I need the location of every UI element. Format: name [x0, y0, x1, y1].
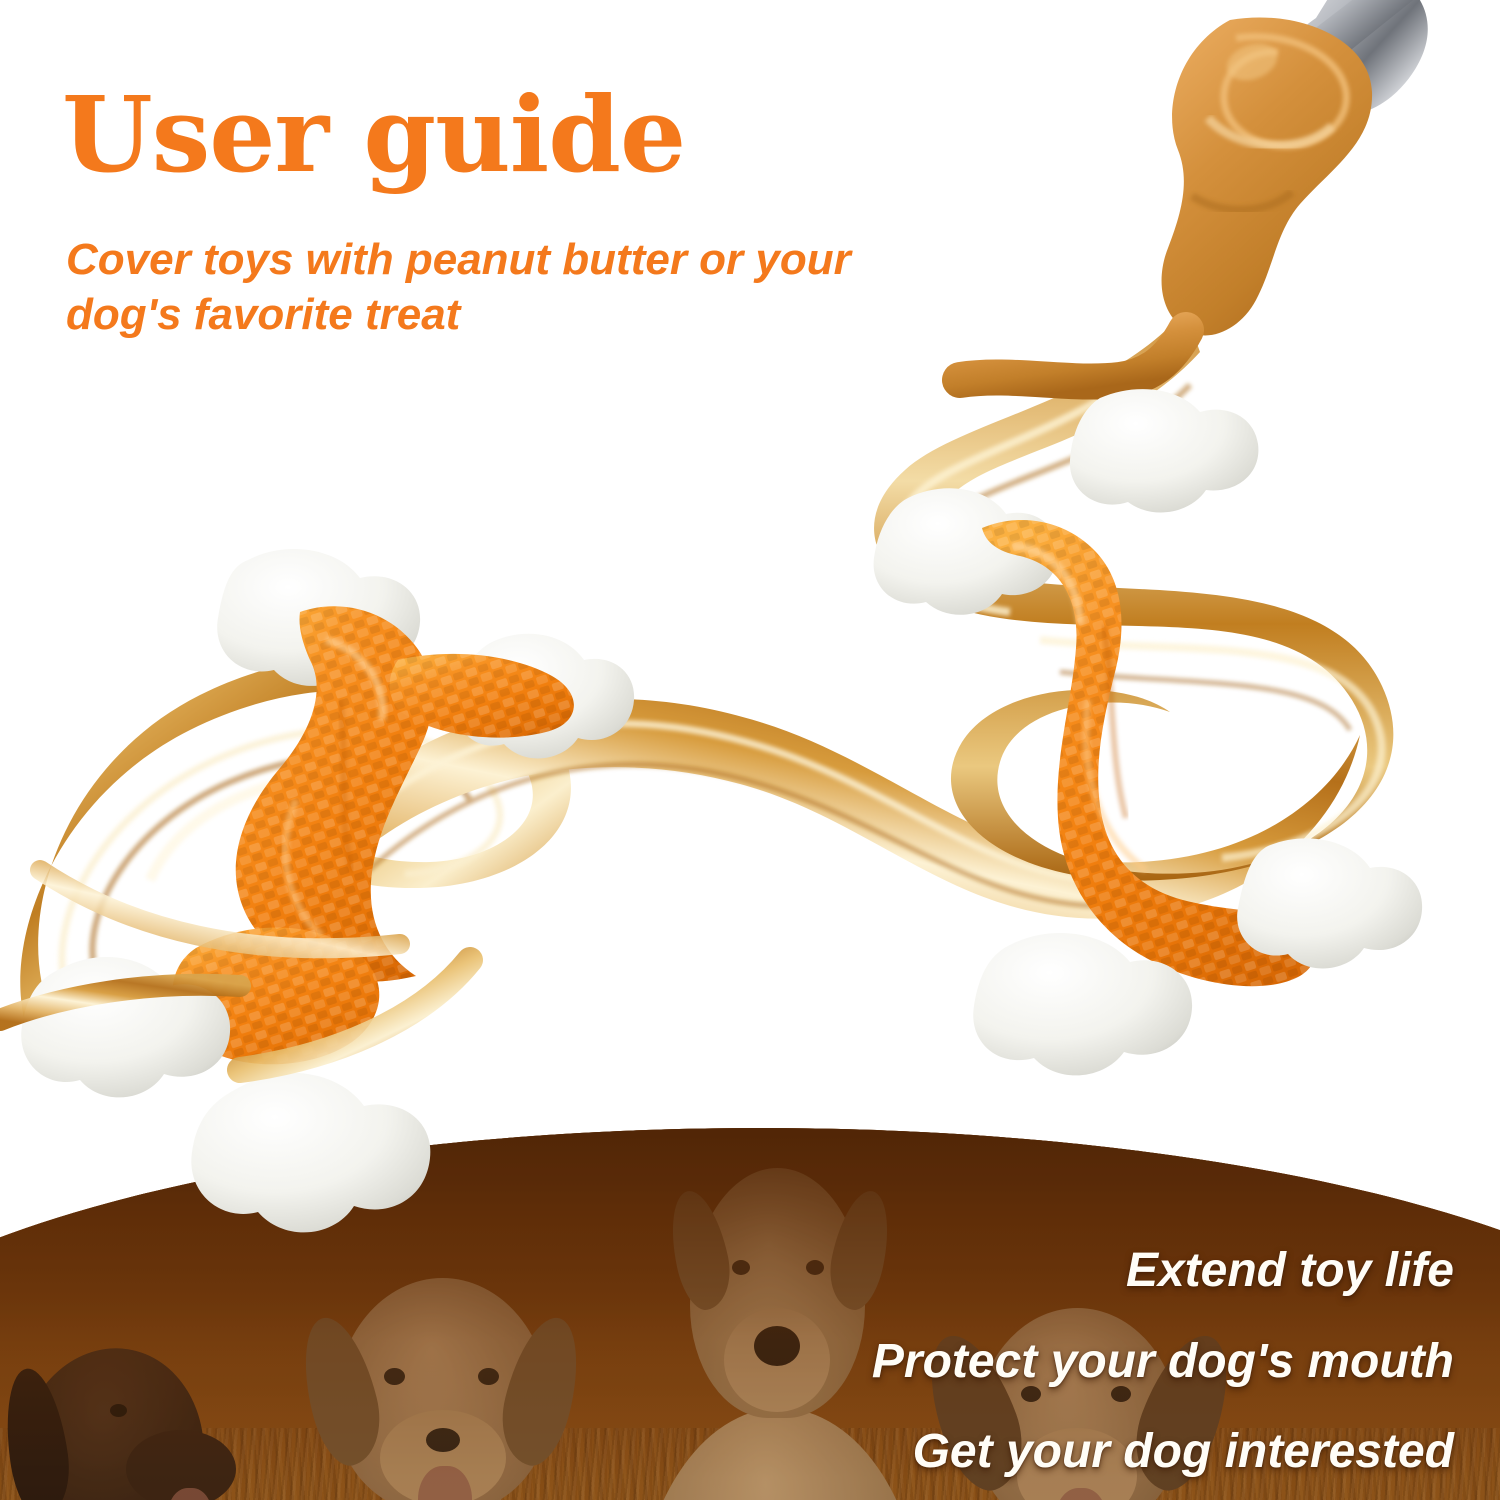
bone-end-white: [1237, 838, 1422, 968]
peanut-butter-artwork: [0, 0, 1500, 1500]
page-title: User guide: [62, 82, 685, 188]
bone-toy-right: [874, 389, 1423, 1075]
product-infographic: Extend toy life Protect your dog's mouth…: [0, 0, 1500, 1500]
bone-toy-left: [21, 549, 634, 1232]
page-subtitle: Cover toys with peanut butter or your do…: [66, 232, 946, 342]
peanut-butter-spoon: [960, 0, 1448, 382]
bone-end-white: [191, 1073, 430, 1233]
bone-end-white: [1070, 389, 1259, 512]
